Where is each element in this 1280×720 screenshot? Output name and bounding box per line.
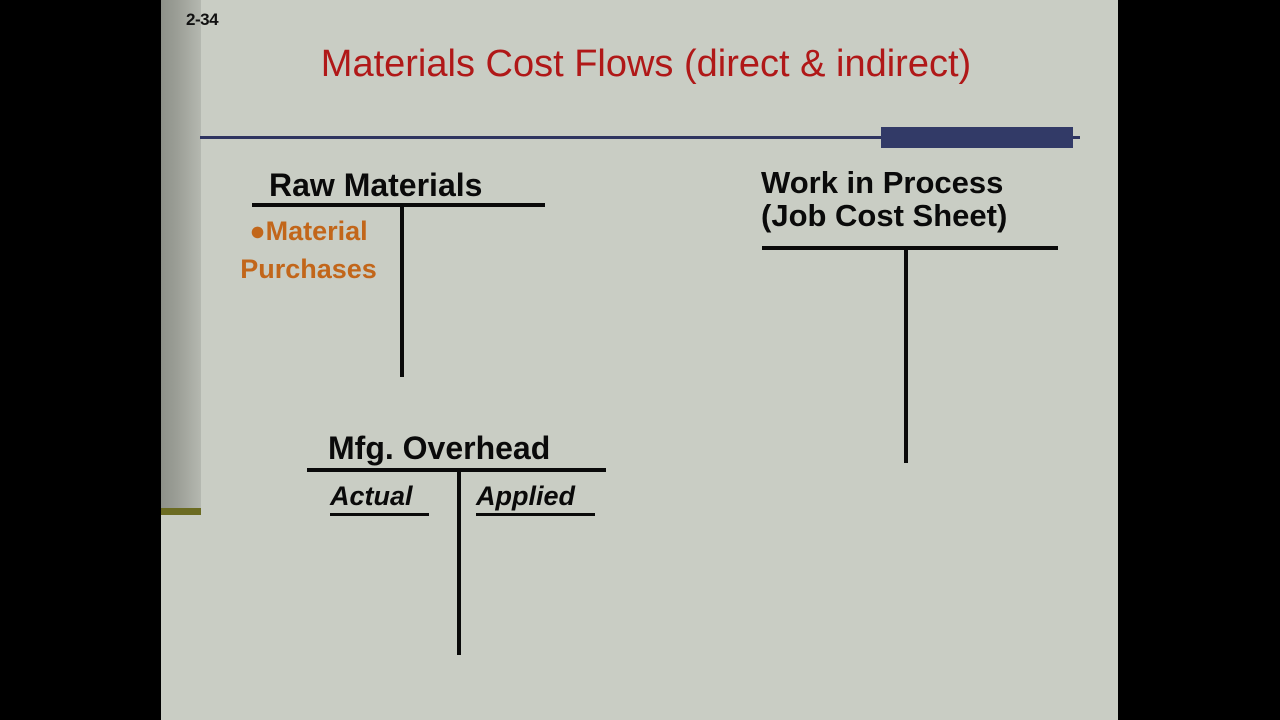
left-band-accent-bar (161, 508, 201, 515)
bullet-icon: ● (249, 216, 265, 246)
work-in-process-title: Work in Process (Job Cost Sheet) (761, 166, 1007, 232)
mfg-overhead-center-rule (457, 472, 461, 655)
raw-materials-top-rule (252, 203, 545, 207)
mfg-overhead-title: Mfg. Overhead (328, 431, 550, 465)
mfg-overhead-debit-label: Actual (330, 481, 413, 512)
mfg-overhead-credit-underline (476, 513, 595, 516)
work-in-process-title-line2: (Job Cost Sheet) (761, 199, 1007, 232)
left-decorative-band (161, 0, 201, 509)
slide-canvas: 2-34 Materials Cost Flows (direct & indi… (161, 0, 1118, 720)
slide-number: 2-34 (186, 10, 218, 30)
mfg-overhead-debit-underline (330, 513, 429, 516)
page-title: Materials Cost Flows (direct & indirect) (201, 43, 1091, 86)
raw-materials-center-rule (400, 207, 404, 377)
title-divider-block (881, 127, 1073, 148)
presentation-viewport: 2-34 Materials Cost Flows (direct & indi… (0, 0, 1280, 720)
work-in-process-title-line1: Work in Process (761, 166, 1007, 199)
work-in-process-center-rule (904, 250, 908, 463)
work-in-process-top-rule (762, 246, 1058, 250)
raw-materials-title: Raw Materials (269, 168, 482, 202)
mfg-overhead-credit-label: Applied (476, 481, 575, 512)
raw-materials-debit-entry: ●Material Purchases (221, 212, 396, 289)
